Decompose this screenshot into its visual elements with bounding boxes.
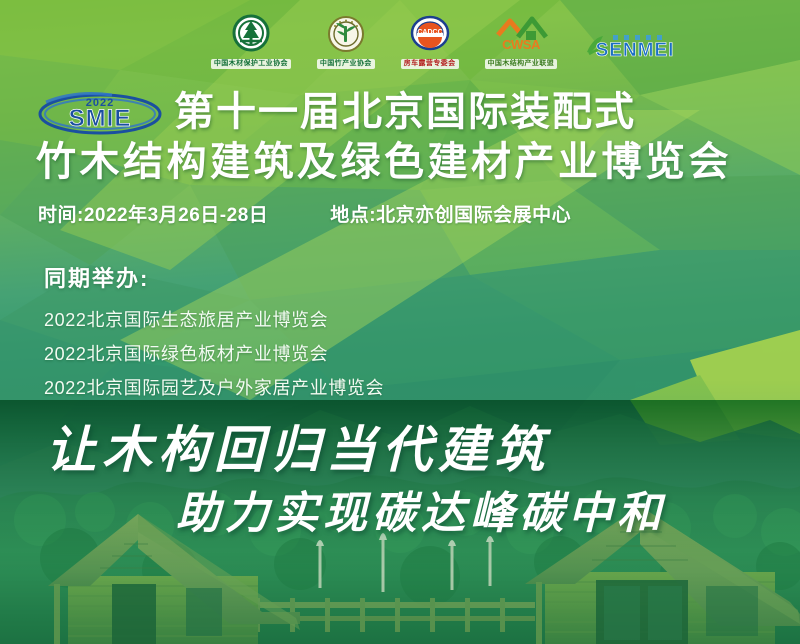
concurrent-event-2: 2022北京国际绿色板材产业博览会: [44, 337, 744, 371]
page-title-line2: 竹木结构建筑及绿色建材产业博览会: [36, 138, 796, 186]
concurrent-event-1: 2022北京国际生态旅居产业博览会: [44, 303, 744, 337]
bamboo-emblem-icon: [327, 15, 365, 58]
logo-bamboo-label: 中国竹产业协会: [317, 59, 375, 69]
slogan-line1: 让木构回归当代建筑: [46, 420, 550, 480]
logo-cwpia-label: 中国木材保护工业协会: [211, 59, 291, 69]
concurrent-heading: 同期举办:: [44, 264, 744, 294]
logo-senmei: SENMEI: [583, 7, 679, 69]
pine-tree-emblem-icon: [231, 13, 271, 58]
logo-cadcc-label: 房车露营专委会: [401, 59, 459, 69]
logo-cwsa-label: 中国木结构产业联盟: [485, 59, 558, 69]
exhibition-poster: 中国木材保护工业协会: [0, 0, 800, 644]
house-cwsa-emblem-icon: CWSA: [492, 13, 550, 58]
svg-text:CADCC: CADCC: [417, 29, 442, 36]
concurrent-event-3: 2022北京国际园艺及户外家居产业博览会: [44, 371, 744, 405]
logo-cadcc: CADCC 房车露营专委会: [401, 7, 459, 69]
event-date-value: 2022年3月26日-28日: [84, 203, 268, 229]
smie-acronym-text: SMIE: [69, 105, 132, 132]
cadcc-emblem-icon: CADCC: [410, 15, 450, 58]
event-venue-label: 地点:: [330, 203, 376, 229]
title-row: 2022 SMIE 第十一届北京国际装配式: [36, 88, 776, 136]
logo-bamboo: 中国竹产业协会: [317, 7, 375, 69]
slogan-line2: 助力实现碳达峰碳中和: [176, 487, 666, 541]
svg-text:SENMEI: SENMEI: [596, 40, 675, 61]
logo-cwsa: CWSA 中国木结构产业联盟: [485, 7, 558, 69]
senmei-wordmark-icon: SENMEI: [583, 30, 679, 69]
logo-cwpia: 中国木材保护工业协会: [211, 7, 291, 69]
event-meta: 时间:2022年3月26日-28日 地点:北京亦创国际会展中心: [38, 203, 778, 229]
event-venue-value: 北京亦创国际会展中心: [376, 203, 571, 229]
svg-text:CWSA: CWSA: [502, 37, 541, 52]
smie-oval-logo-icon: 2022 SMIE: [36, 88, 164, 136]
concurrent-events-section: 同期举办: 2022北京国际生态旅居产业博览会 2022北京国际绿色板材产业博览…: [44, 264, 744, 405]
sponsor-logo-strip: 中国木材保护工业协会: [0, 0, 800, 76]
event-date-label: 时间:: [38, 203, 84, 229]
page-title-line1: 第十一届北京国际装配式: [174, 89, 636, 135]
